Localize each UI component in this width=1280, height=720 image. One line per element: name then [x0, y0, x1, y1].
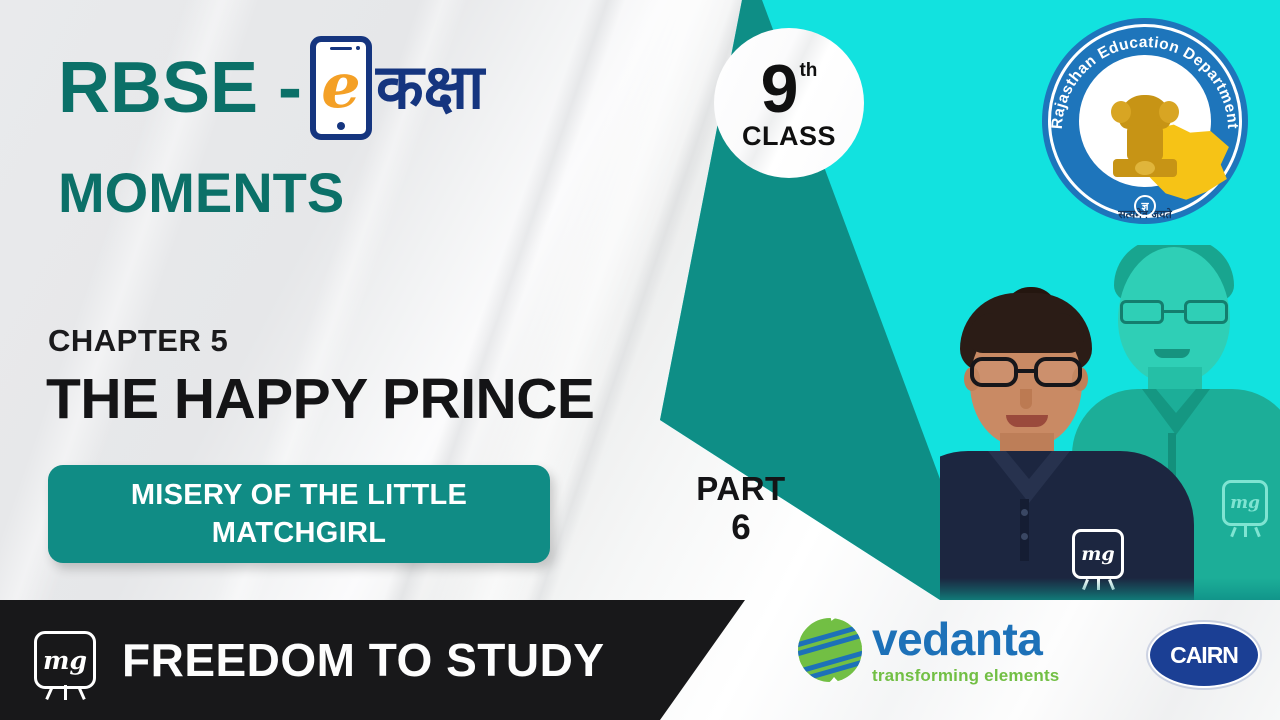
part-number: 6 — [636, 508, 846, 548]
ashoka-emblem-icon — [1109, 95, 1181, 193]
vedanta-logo: vedanta transforming elements — [798, 618, 1059, 686]
shirt-button — [1021, 533, 1028, 540]
vedanta-name: vedanta — [872, 618, 1059, 662]
cairn-name: CAIRN — [1170, 642, 1238, 669]
thumbnail-canvas: mg mg — [0, 0, 1280, 720]
class-word: CLASS — [742, 121, 836, 152]
topic-text: MISERY OF THE LITTLE MATCHGIRL — [48, 476, 550, 553]
vedanta-tagline: transforming elements — [872, 666, 1059, 686]
nose — [1020, 389, 1032, 409]
mg-brand-logo: mg — [34, 631, 96, 689]
chapter-label: CHAPTER 5 — [48, 323, 228, 359]
part-label: PART — [636, 470, 846, 508]
vedanta-globe-icon — [798, 618, 862, 682]
seal-inner-disc: सत्यमेव जयते — [1079, 55, 1211, 187]
book-title: MOMENTS — [58, 160, 344, 225]
class-ordinal: th — [799, 61, 817, 80]
shirt-mg-logo: mg — [1072, 529, 1124, 579]
class-number-row: 9 th — [761, 55, 818, 123]
board-title: RBSE - — [58, 52, 302, 124]
part-indicator: PART 6 — [636, 470, 846, 548]
cairn-logo: CAIRN — [1148, 622, 1260, 688]
vedanta-wordmark: vedanta transforming elements — [872, 618, 1059, 686]
presenters-photo: mg mg — [940, 245, 1280, 600]
shirt-mg-logo: mg — [1222, 480, 1268, 526]
rajasthan-education-department-seal: Rajasthan Education Department सत्यमेव ज… — [1042, 18, 1248, 224]
board-title-row: RBSE - e कक्षा — [58, 36, 484, 140]
photo-bottom-fade — [940, 578, 1280, 600]
seal-mini-mark: ज्ञ — [1134, 195, 1156, 217]
ekaksha-logo: e कक्षा — [310, 36, 484, 140]
class-number: 9 — [761, 55, 798, 123]
hair-fringe — [968, 313, 1084, 353]
ekaksha-hindi-text: कक्षा — [376, 57, 484, 119]
ekaksha-e-letter: e — [321, 55, 360, 117]
presenter-front: mg — [940, 293, 1190, 600]
topic-badge: MISERY OF THE LITTLE MATCHGIRL — [48, 465, 550, 563]
class-badge: 9 th CLASS — [714, 28, 864, 178]
shirt-button — [1021, 509, 1028, 516]
glasses-icon — [970, 357, 1082, 387]
footer-tagline: FREEDOM TO STUDY — [122, 633, 605, 687]
mouth — [1006, 415, 1048, 427]
chapter-title: THE HAPPY PRINCE — [46, 366, 594, 432]
smartphone-icon: e — [310, 36, 372, 140]
